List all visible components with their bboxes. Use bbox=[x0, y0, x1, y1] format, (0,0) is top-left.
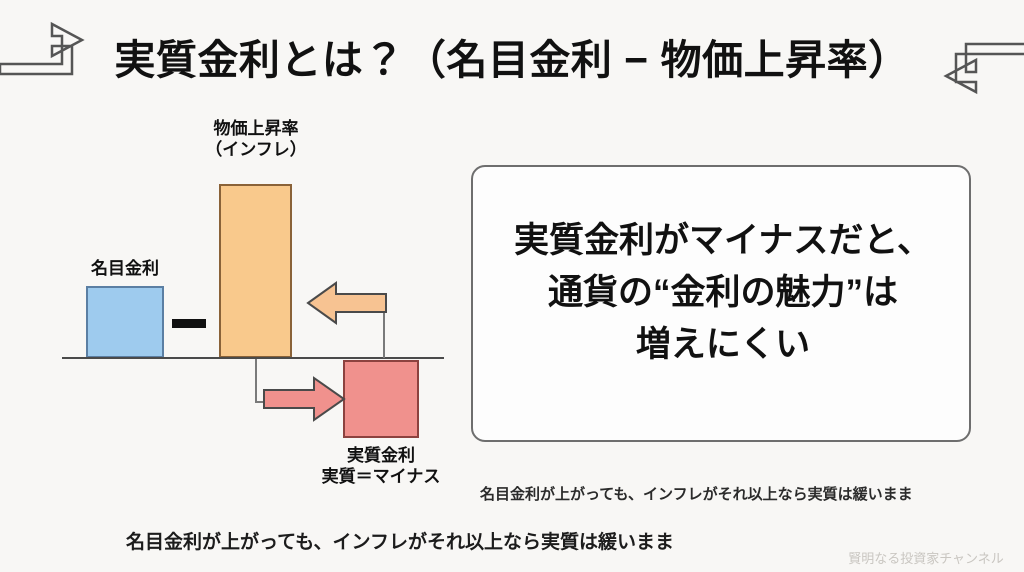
slide-canvas: 実質金利とは？（名目金利 − 物価上昇率） 名目金利 物価上昇率 （インフレ） bbox=[0, 0, 1024, 572]
leader-line-real-vertical bbox=[255, 359, 257, 403]
bar-chart: 名目金利 物価上昇率 （インフレ） 実質金利 実質＝マイナス bbox=[0, 100, 470, 520]
bar-label-nominal-text: 名目金利 bbox=[60, 258, 190, 279]
caption-large: 名目金利が上がっても、インフレがそれ以上なら実質は緩いまま bbox=[0, 527, 800, 554]
page-title: 実質金利とは？（名目金利 − 物価上昇率） bbox=[0, 26, 1024, 86]
callout-box: 実質金利がマイナスだと、 通貨の“金利の魅力”は 増えにくい bbox=[471, 165, 971, 442]
minus-operator-icon bbox=[172, 319, 206, 328]
callout-line-3: 増えにくい bbox=[473, 319, 973, 371]
callout-text: 実質金利がマイナスだと、 通貨の“金利の魅力”は 増えにくい bbox=[473, 215, 973, 370]
chart-baseline bbox=[62, 357, 444, 359]
bar-label-inflation: 物価上昇率 （インフレ） bbox=[180, 118, 332, 161]
bar-label-real-line2: 実質＝マイナス bbox=[260, 466, 502, 487]
bar-label-real-line1: 実質金利 bbox=[260, 445, 502, 466]
arrow-right-pink-icon bbox=[262, 372, 346, 431]
bar-real bbox=[343, 360, 419, 438]
caption-small: 名目金利が上がっても、インフレがそれ以上なら実質は緩いまま bbox=[480, 483, 1020, 504]
bar-label-inflation-line1: 物価上昇率 bbox=[180, 118, 332, 139]
callout-line-1: 実質金利がマイナスだと、 bbox=[473, 215, 973, 267]
bar-label-inflation-line2: （インフレ） bbox=[180, 139, 332, 160]
callout-line-2: 通貨の“金利の魅力”は bbox=[473, 267, 973, 319]
watermark: 賢明なる投資家チャンネル bbox=[838, 548, 1014, 567]
arrow-left-orange-icon bbox=[306, 277, 388, 338]
bar-label-nominal: 名目金利 bbox=[60, 258, 190, 279]
bar-nominal bbox=[86, 286, 164, 358]
bar-label-real: 実質金利 実質＝マイナス bbox=[260, 445, 502, 488]
bar-inflation bbox=[219, 184, 292, 358]
